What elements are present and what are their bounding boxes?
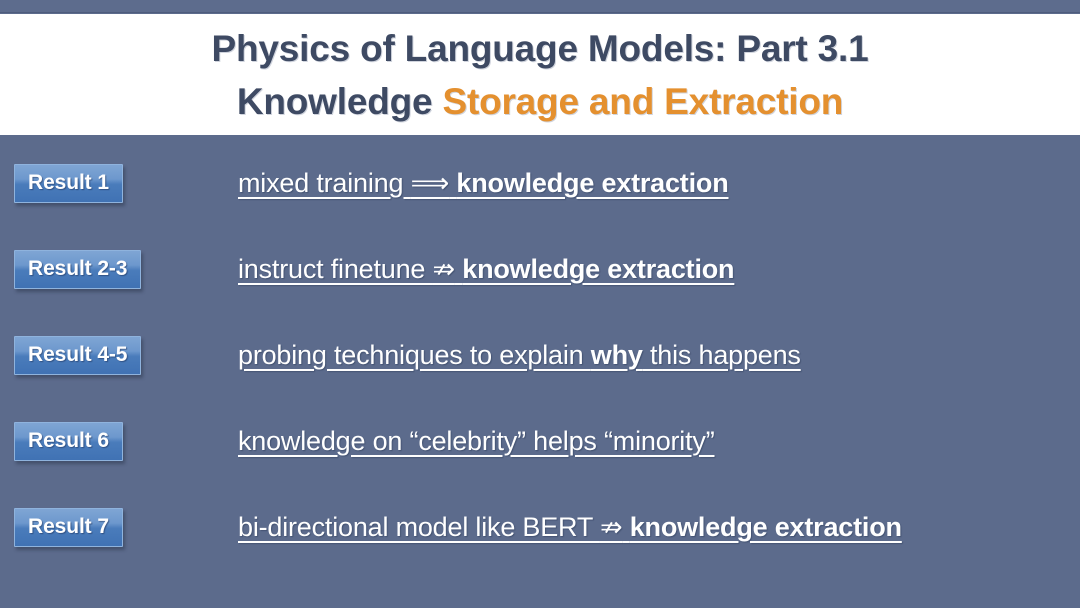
result-statement-1: mixed training ⟹ knowledge extraction: [238, 168, 729, 199]
slide-title-line-1-text: Physics of Language Models: Part 3.1: [212, 28, 869, 69]
slide-title-line-1: Physics of Language Models: Part 3.1: [212, 22, 869, 75]
result-badge-7[interactable]: Result 7: [14, 508, 123, 547]
result-badge-label: Result 2-3: [28, 257, 127, 281]
slide-top-strip: [0, 0, 1080, 13]
statement-run: instruct finetune: [238, 254, 433, 284]
statement-run: knowledge on “celebrity” helps “minority…: [238, 426, 715, 456]
result-row: Result 7 bi-directional model like BERT …: [0, 499, 1080, 555]
result-statement-4-5: probing techniques to explain why this h…: [238, 340, 801, 371]
result-row: Result 1 mixed training ⟹ knowledge extr…: [0, 155, 1080, 211]
statement-run: [622, 512, 629, 542]
statement-run: this happens: [643, 340, 801, 370]
slide-body: Result 1 mixed training ⟹ knowledge extr…: [0, 135, 1080, 608]
result-badge-1[interactable]: Result 1: [14, 164, 123, 203]
result-badge-label: Result 1: [28, 171, 109, 195]
statement-run: knowledge extraction: [462, 254, 734, 284]
implies-arrow-icon: ⟹: [411, 168, 450, 199]
result-badge-label: Result 4-5: [28, 343, 127, 367]
result-badge-4-5[interactable]: Result 4-5: [14, 336, 141, 375]
result-badge-2-3[interactable]: Result 2-3: [14, 250, 141, 289]
not-implies-arrow-icon: ⇏: [433, 254, 455, 285]
statement-run: knowledge extraction: [630, 512, 902, 542]
slide-title-band: Physics of Language Models: Part 3.1 Kno…: [0, 14, 1080, 135]
statement-run: bi-directional model like BERT: [238, 512, 600, 542]
result-row: Result 2-3 instruct finetune ⇏ knowledge…: [0, 241, 1080, 297]
slide-title-line-2-prefix: Knowledge: [237, 81, 443, 122]
slide-title-line-2: Knowledge Storage and Extraction: [237, 75, 843, 128]
result-badge-6[interactable]: Result 6: [14, 422, 123, 461]
result-row: Result 6 knowledge on “celebrity” helps …: [0, 413, 1080, 469]
statement-run: knowledge extraction: [456, 168, 728, 198]
statement-run: mixed training: [238, 168, 411, 198]
result-badge-label: Result 7: [28, 515, 109, 539]
result-statement-2-3: instruct finetune ⇏ knowledge extraction: [238, 254, 734, 285]
statement-run: why: [591, 340, 643, 370]
result-badge-label: Result 6: [28, 429, 109, 453]
statement-run: probing techniques to explain: [238, 340, 591, 370]
result-row: Result 4-5 probing techniques to explain…: [0, 327, 1080, 383]
presentation-slide: Physics of Language Models: Part 3.1 Kno…: [0, 0, 1080, 608]
result-statement-6: knowledge on “celebrity” helps “minority…: [238, 426, 715, 457]
slide-title-line-2-accent: Storage and Extraction: [442, 81, 843, 122]
result-statement-7: bi-directional model like BERT ⇏ knowled…: [238, 512, 902, 543]
not-implies-arrow-icon: ⇏: [600, 512, 622, 543]
